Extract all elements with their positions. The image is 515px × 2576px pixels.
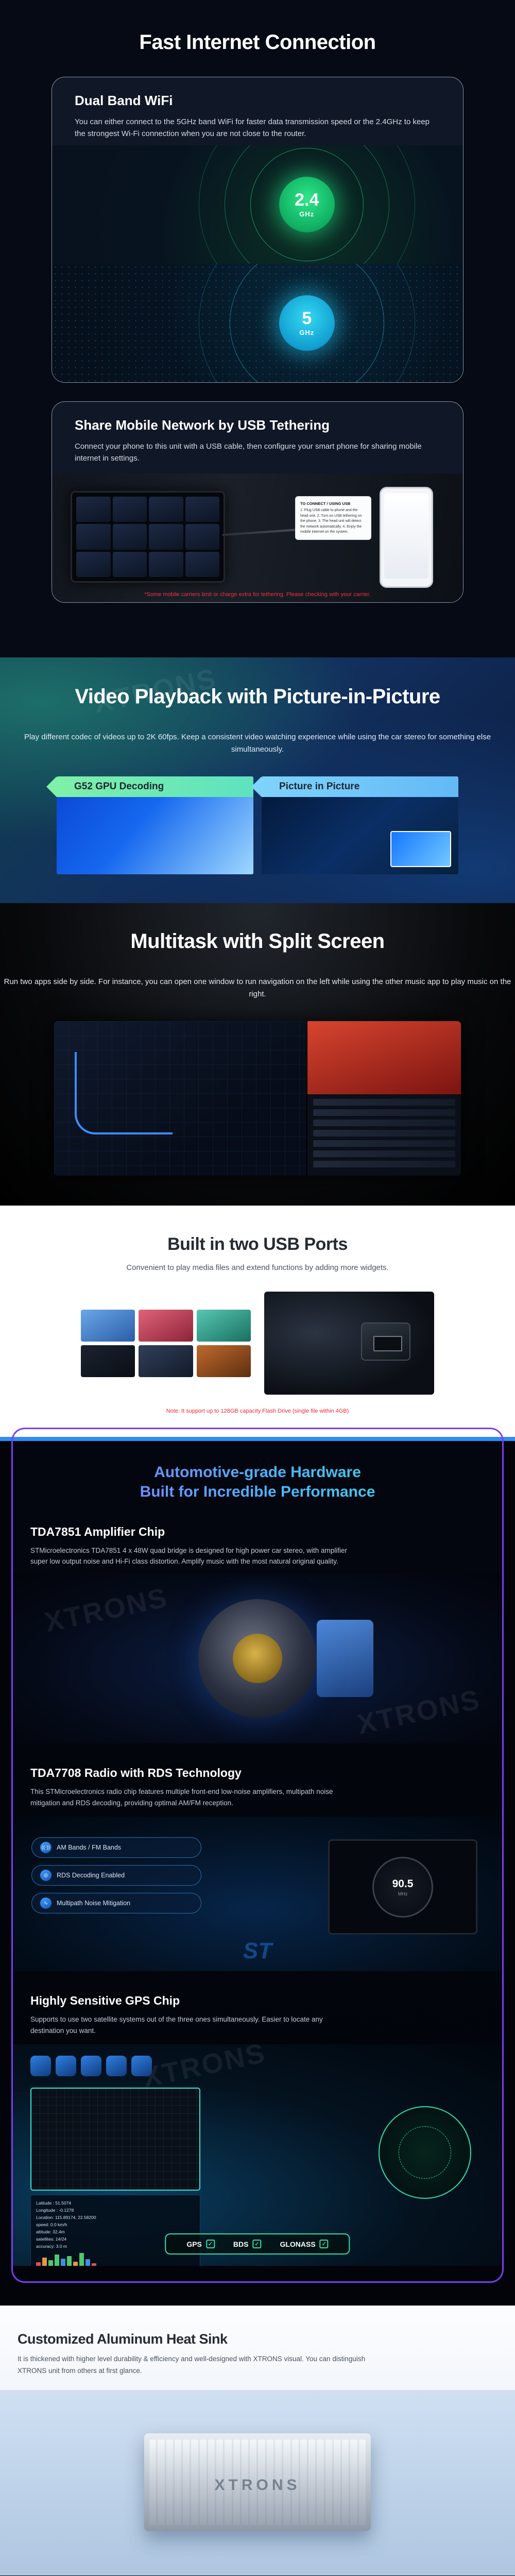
tile — [81, 1345, 135, 1377]
gnss-glonass: GLONASS ✓ — [280, 2240, 328, 2248]
fin — [359, 2439, 366, 2525]
sat-bar — [67, 2256, 72, 2266]
tile — [139, 1345, 193, 1377]
headline-line-2: Built for Incredible Performance — [140, 1483, 375, 1500]
map-route-line — [75, 1052, 173, 1134]
gps-info-line: Latitude : 51.5074 — [36, 2199, 195, 2207]
waze-app-icon[interactable] — [56, 2056, 76, 2076]
block-radio: TDA7708 Radio with RDS Technology This S… — [30, 1766, 485, 1808]
tether-card-heading: Share Mobile Network by USB Tethering — [75, 417, 440, 433]
tethering-note: *Some mobile carriers limit or charge ex… — [52, 591, 463, 598]
track-row[interactable] — [313, 1140, 455, 1147]
tab-gpu-screenshot — [57, 797, 253, 874]
radio-feature-noise: ∿ Multipath Noise Mitigation — [31, 1893, 201, 1913]
radio-feature-am-fm: ((‧)) AM Bands / FM Bands — [31, 1837, 201, 1858]
app-tile — [76, 497, 111, 522]
track-row[interactable] — [313, 1099, 455, 1106]
speaker-cone — [198, 1599, 317, 1718]
sat-bar — [55, 2255, 59, 2266]
heatsink-body: It is thickened with higher level durabi… — [18, 2353, 378, 2377]
app-tile — [113, 524, 147, 549]
app-tile — [185, 497, 220, 522]
app-tile — [76, 552, 111, 577]
gps-info-line: Longitude : -0.1278 — [36, 2207, 195, 2214]
watermark: XTRONS — [42, 1581, 171, 1638]
heatsink-title: Customized Aluminum Heat Sink — [18, 2331, 515, 2347]
satellite-signal-bars — [36, 2253, 195, 2266]
fin — [200, 2439, 207, 2525]
fin — [166, 2439, 173, 2525]
tab-gpu-label: G52 GPU Decoding — [57, 776, 253, 797]
usb-port-photo — [264, 1292, 434, 1395]
gnss-label: GLONASS — [280, 2240, 315, 2248]
wifi-card-text: Dual Band WiFi You can either connect to… — [52, 77, 463, 140]
gps-info-line: speed: 0.0 km/h — [36, 2221, 195, 2228]
wave-icon: ∿ — [40, 1897, 51, 1909]
sygic-app-icon[interactable] — [81, 2056, 101, 2076]
check-icon: ✓ — [320, 2240, 329, 2248]
wifi-illustration: 2.4 GHz 5 GHz — [52, 145, 463, 382]
video-feature-tabs: G52 GPU Decoding Picture in Picture — [0, 776, 515, 874]
radio-illustration: ((‧)) AM Bands / FM Bands ◎ RDS Decoding… — [13, 1817, 502, 1971]
usb-subtitle: Convenient to play media files and exten… — [0, 1262, 515, 1274]
app-tile — [185, 524, 220, 549]
satellite-compass — [379, 2106, 471, 2199]
st-logo: ST — [243, 1938, 272, 1964]
map-grid — [31, 2089, 199, 2190]
fin — [191, 2439, 198, 2525]
antenna-icon: ((‧)) — [40, 1842, 51, 1853]
phone-screen — [384, 493, 428, 579]
block-gps: Highly Sensitive GPS Chip Supports to us… — [30, 1994, 485, 2036]
album-art — [307, 1021, 461, 1094]
speaker-driver — [198, 1599, 317, 1718]
radio-tuner-dial[interactable]: 90.5 MHz — [372, 1857, 433, 1918]
track-row[interactable] — [313, 1150, 455, 1157]
heatsink-brand: XTRONS — [214, 2477, 300, 2494]
section-video-playback: XTRONS Video Playback with Picture-in-Pi… — [0, 657, 515, 903]
gps-heading: Highly Sensitive GPS Chip — [30, 1994, 485, 2008]
fin — [317, 2439, 323, 2525]
fin — [300, 2439, 307, 2525]
fin — [183, 2439, 190, 2525]
sat-bar — [79, 2253, 84, 2266]
tip-body: 1. Plug USB cable to phone and the head … — [300, 509, 362, 534]
tab-gpu-decoding[interactable]: G52 GPU Decoding — [57, 776, 253, 874]
gnss-systems-row: GPS ✓ BDS ✓ GLONASS ✓ — [165, 2233, 350, 2255]
gps-illustration: XTRONS Latitude : 51.5074 Longitude : -0… — [13, 2044, 502, 2266]
head-unit-screen — [71, 491, 225, 583]
section-split-screen: Multitask with Split Screen Run two apps… — [0, 903, 515, 1206]
sat-bar — [36, 2262, 41, 2266]
tab-picture-in-picture[interactable]: Picture in Picture — [262, 776, 458, 874]
band-24-art: 2.4 GHz — [52, 145, 463, 264]
track-list — [307, 1094, 461, 1176]
speaker-magnet — [317, 1620, 373, 1697]
radio-feature-label: Multipath Noise Mitigation — [57, 1900, 130, 1907]
here-app-icon[interactable] — [106, 2056, 127, 2076]
tether-card-text: Share Mobile Network by USB Tethering Co… — [52, 402, 463, 465]
usb-connector — [361, 1323, 410, 1361]
tip-title: TO CONNECT / USING USB — [300, 501, 366, 506]
radio-frequency-unit: MHz — [398, 1891, 408, 1896]
sat-bar — [48, 2260, 53, 2266]
video-subtitle: Play different codec of videos up to 2K … — [0, 731, 515, 756]
badge-5-unit: GHz — [299, 329, 314, 336]
headline-line-1: Automotive-grade Hardware — [154, 1464, 361, 1481]
track-row[interactable] — [313, 1130, 455, 1137]
fin — [334, 2439, 340, 2525]
track-row[interactable] — [313, 1120, 455, 1126]
dual-band-wifi-card: Dual Band WiFi You can either connect to… — [51, 77, 463, 383]
widget-tiles — [81, 1310, 251, 1377]
page-title: Fast Internet Connection — [0, 31, 515, 54]
fin — [149, 2439, 156, 2525]
gnss-label: BDS — [233, 2240, 249, 2248]
badge-24-unit: GHz — [299, 210, 314, 218]
smartphone-mockup — [380, 487, 433, 588]
heatsink-illustration: XTRONS — [0, 2390, 515, 2575]
radio-body: This STMicroelectronics radio chip featu… — [30, 1786, 350, 1808]
radio-feature-list: ((‧)) AM Bands / FM Bands ◎ RDS Decoding… — [31, 1837, 201, 1921]
sat-bar — [42, 2258, 47, 2266]
app-tile — [149, 497, 183, 522]
section-fast-internet: Fast Internet Connection Dual Band WiFi … — [0, 0, 515, 657]
map-app-icon[interactable] — [30, 2056, 51, 2076]
wifi-card-body: You can either connect to the 5GHz band … — [75, 116, 440, 140]
tethering-illustration: TO CONNECT / USING USB 1. Plug USB cable… — [52, 473, 463, 602]
track-row[interactable] — [313, 1109, 455, 1116]
check-icon: ✓ — [206, 2240, 215, 2248]
watermark: XTRONS — [140, 2044, 269, 2094]
app-tile — [149, 552, 183, 577]
badge-2-4ghz: 2.4 GHz — [279, 177, 335, 232]
block-amplifier: TDA7851 Amplifier Chip STMicroelectronic… — [30, 1525, 485, 1567]
band-5-art: 5 GHz — [52, 264, 463, 382]
watermark: XTRONS — [354, 1683, 484, 1740]
tile — [81, 1310, 135, 1342]
radio-feature-rds: ◎ RDS Decoding Enabled — [31, 1865, 201, 1886]
usb-capacity-note: Note: It support up to 128GB capacity Fl… — [0, 1408, 515, 1414]
fin — [342, 2439, 349, 2525]
wifi-card-heading: Dual Band WiFi — [75, 93, 440, 109]
sat-bar — [92, 2263, 96, 2266]
hardware-headline: Automotive-grade Hardware Built for Incr… — [13, 1463, 502, 1502]
tab-pip-label: Picture in Picture — [262, 776, 458, 797]
sat-bar — [73, 2262, 78, 2266]
section-usb-ports: Built in two USB Ports Convenient to pla… — [0, 1206, 515, 1437]
video-title: Video Playback with Picture-in-Picture — [0, 685, 515, 708]
badge-24-value: 2.4 — [295, 191, 319, 209]
gps-status-panel: Latitude : 51.5074 Longitude : -0.1278 L… — [30, 2195, 200, 2266]
gnss-bds: BDS ✓ — [233, 2240, 262, 2248]
amplifier-illustration: XTRONS XTRONS — [13, 1573, 502, 1743]
gnss-gps: GPS ✓ — [186, 2240, 215, 2248]
amplifier-heading: TDA7851 Amplifier Chip — [30, 1525, 485, 1539]
tomtom-app-icon[interactable] — [131, 2056, 152, 2076]
radio-heading: TDA7708 Radio with RDS Technology — [30, 1766, 485, 1780]
hardware-frame: Automotive-grade Hardware Built for Incr… — [11, 1441, 504, 2283]
gps-body: Supports to use two satellite systems ou… — [30, 2014, 350, 2036]
rds-icon: ◎ — [40, 1870, 51, 1881]
split-title: Multitask with Split Screen — [0, 930, 515, 953]
fin — [325, 2439, 332, 2525]
pip-window — [390, 831, 451, 867]
tethering-tip-box: TO CONNECT / USING USB 1. Plug USB cable… — [295, 496, 371, 540]
tab-pip-screenshot — [262, 797, 458, 874]
tile — [139, 1310, 193, 1342]
section-heat-sink: Customized Aluminum Heat Sink It is thic… — [0, 2306, 515, 2575]
gnss-label: GPS — [186, 2240, 202, 2248]
badge-5ghz: 5 GHz — [279, 295, 335, 351]
split-subtitle: Run two apps side by side. For instance,… — [0, 976, 515, 1001]
fin — [208, 2439, 215, 2525]
tile — [197, 1310, 251, 1342]
fin — [308, 2439, 315, 2525]
app-tile — [185, 552, 220, 577]
fin — [175, 2439, 181, 2525]
radio-feature-label: RDS Decoding Enabled — [57, 1872, 125, 1879]
radio-frequency: 90.5 — [392, 1878, 414, 1890]
section-automotive-hardware: Automotive-grade Hardware Built for Incr… — [0, 1437, 515, 2306]
amplifier-body: STMicroelectronics TDA7851 4 x 48W quad … — [30, 1545, 350, 1567]
music-pane[interactable] — [306, 1021, 461, 1176]
badge-5-value: 5 — [302, 310, 312, 327]
tether-card-body: Connect your phone to this unit with a U… — [75, 440, 440, 465]
radio-feature-label: AM Bands / FM Bands — [57, 1844, 121, 1851]
fin — [350, 2439, 357, 2525]
usb-illustration — [0, 1292, 515, 1395]
app-tile — [76, 524, 111, 549]
app-tile — [149, 524, 183, 549]
track-row[interactable] — [313, 1161, 455, 1167]
tile — [197, 1345, 251, 1377]
fin — [158, 2439, 164, 2525]
gps-map-preview[interactable] — [30, 2088, 200, 2191]
sat-bar — [61, 2259, 65, 2266]
nav-app-icons — [30, 2056, 152, 2076]
gps-info-line: Location: 115.89174, 22.58200 — [36, 2214, 195, 2221]
app-tile — [113, 497, 147, 522]
navigation-pane[interactable] — [54, 1021, 306, 1176]
split-screen-demo — [54, 1021, 461, 1176]
radio-screen-mockup: 90.5 MHz — [328, 1839, 477, 1935]
sat-bar — [85, 2259, 90, 2266]
usb-title: Built in two USB Ports — [0, 1234, 515, 1255]
app-tile — [113, 552, 147, 577]
check-icon: ✓ — [252, 2240, 261, 2248]
usb-tethering-card: Share Mobile Network by USB Tethering Co… — [51, 401, 463, 603]
product-feature-page: Fast Internet Connection Dual Band WiFi … — [0, 0, 515, 2575]
